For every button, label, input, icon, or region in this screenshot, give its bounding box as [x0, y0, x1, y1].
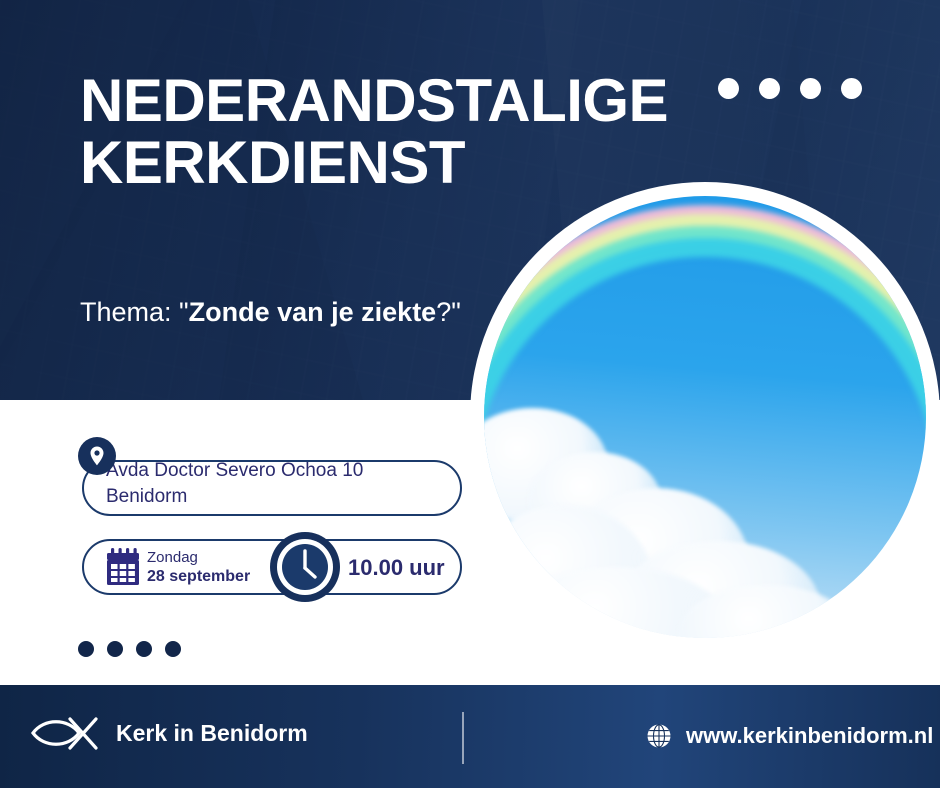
map-pin-badge — [78, 437, 116, 475]
theme-value: Zonde van je ziekte — [189, 297, 437, 327]
dot-icon — [841, 78, 862, 99]
calendar-icon — [105, 548, 141, 586]
theme-suffix: ?" — [436, 297, 461, 327]
clock-icon — [270, 532, 340, 602]
date-weekday: Zondag — [147, 548, 250, 567]
dot-icon — [718, 78, 739, 99]
map-pin-icon — [87, 445, 107, 467]
event-poster: NEDERANDSTALIGE KERKDIENST Thema: "Zonde… — [0, 0, 940, 788]
date-text: Zondag 28 september — [147, 548, 250, 586]
date-day-month: 28 september — [147, 567, 250, 586]
page-title: NEDERANDSTALIGE KERKDIENST — [80, 70, 700, 195]
address-line-1: Avda Doctor Severo Ochoa 10 — [106, 460, 363, 481]
theme-line: Thema: "Zonde van je ziekte?" — [80, 297, 461, 328]
website-block[interactable]: www.kerkinbenidorm.nl — [646, 723, 933, 749]
footer-divider — [462, 712, 464, 764]
ichthys-fish-icon — [30, 712, 100, 754]
dot-icon — [107, 641, 123, 657]
globe-icon — [646, 723, 672, 749]
decorative-dots-bottom — [78, 641, 181, 657]
dot-icon — [800, 78, 821, 99]
brand-name: Kerk in Benidorm — [116, 720, 308, 747]
dot-icon — [165, 641, 181, 657]
photo-circle-ring — [470, 182, 940, 652]
theme-label: Thema: " — [80, 297, 189, 327]
decorative-dots-top — [718, 78, 862, 99]
dot-icon — [136, 641, 152, 657]
rainbow-sky-photo — [484, 196, 926, 638]
time-text: 10.00 uur — [348, 555, 445, 581]
address-text: Avda Doctor Severo Ochoa 10 Benidorm — [106, 458, 456, 510]
website-url[interactable]: www.kerkinbenidorm.nl — [686, 723, 933, 749]
dot-icon — [759, 78, 780, 99]
address-line-2: Benidorm — [106, 486, 187, 507]
brand-block: Kerk in Benidorm — [30, 712, 308, 754]
dot-icon — [78, 641, 94, 657]
